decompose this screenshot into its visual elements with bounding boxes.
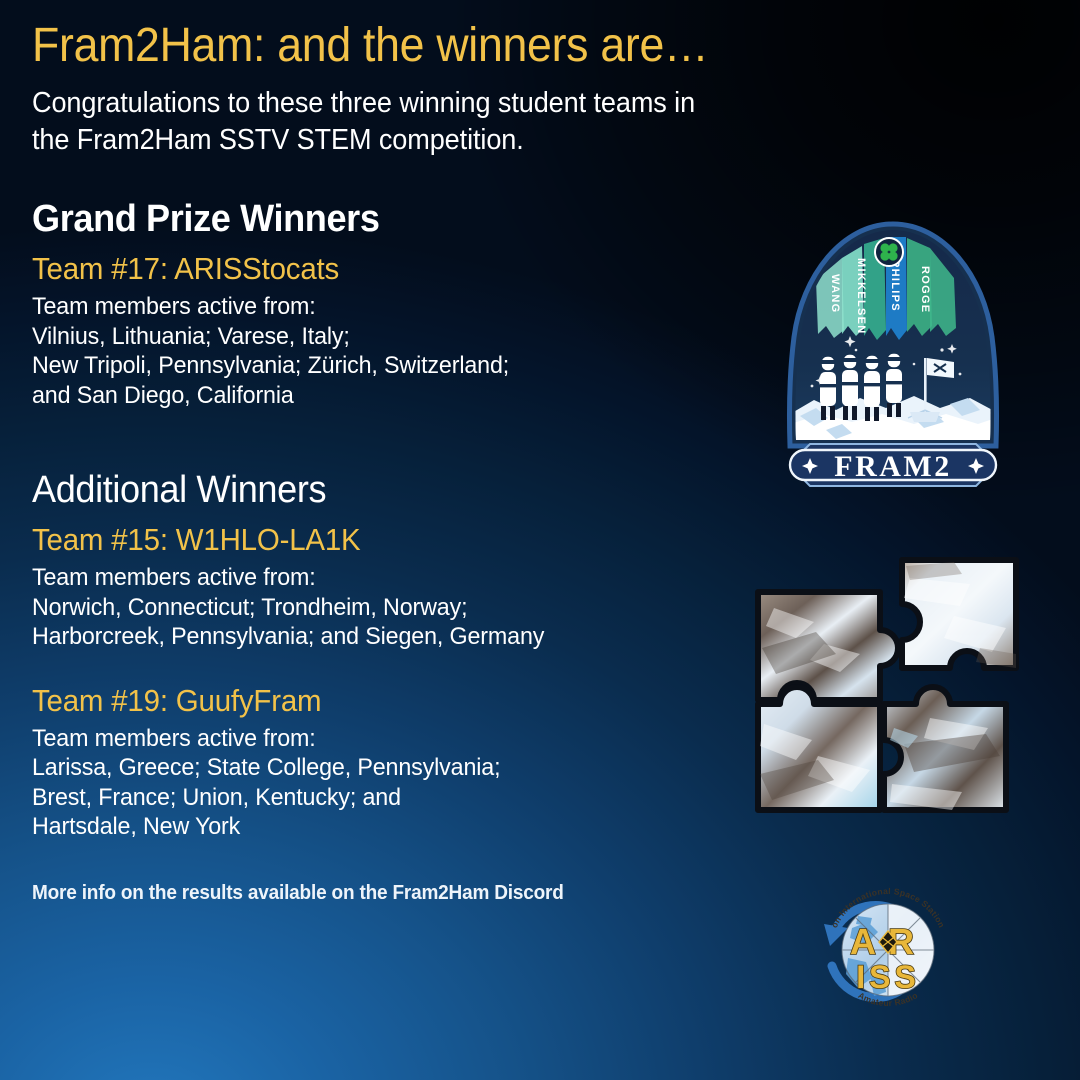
team-name-19: Team #19: GuufyFram xyxy=(32,682,697,719)
team-location-19-3: Hartsdale, New York xyxy=(32,812,697,842)
crew-name-philips: PHILIPS xyxy=(889,260,901,312)
team-members-label-17: Team members active from: xyxy=(32,292,697,322)
ariss-letters-bottom: ISS xyxy=(856,959,920,995)
team-location-17-3: and San Diego, California xyxy=(32,381,697,411)
team-block-17: Team #17: ARISStocats Team members activ… xyxy=(32,250,732,410)
fram2-banner-text: FRAM2 xyxy=(834,450,951,483)
team-name-17: Team #17: ARISStocats xyxy=(32,250,697,287)
section-grand-prize: Grand Prize Winners Team #17: ARISStocat… xyxy=(32,199,732,410)
puzzle-piece-bottom-left xyxy=(758,687,880,810)
team-block-19: Team #19: GuufyFram Team members active … xyxy=(32,682,732,842)
team-members-label-19: Team members active from: xyxy=(32,724,697,754)
team-block-15: Team #15: W1HLO-LA1K Team members active… xyxy=(32,521,732,652)
page-subtitle: Congratulations to these three winning s… xyxy=(32,85,697,159)
team-location-19-2: Brest, France; Union, Kentucky; and xyxy=(32,783,697,813)
team-location-15-1: Norwich, Connecticut; Trondheim, Norway; xyxy=(32,593,697,623)
puzzle-piece-bottom-right xyxy=(884,687,1006,810)
crew-name-mikkelsen: MIKKELSEN xyxy=(855,258,867,334)
fram2-banner: FRAM2 xyxy=(790,444,996,486)
poster-canvas: Fram2Ham: and the winners are… Congratul… xyxy=(0,0,1080,1080)
section-heading-additional: Additional Winners xyxy=(32,470,697,512)
section-heading-grand-prize: Grand Prize Winners xyxy=(32,199,697,241)
crew-name-wang: WANG xyxy=(829,274,841,313)
team-location-17-2: New Tripoli, Pennsylvania; Zürich, Switz… xyxy=(32,351,697,381)
ariss-logo-icon: on International Space Station Amateur R… xyxy=(808,880,968,1020)
puzzle-piece-top-left xyxy=(758,592,898,700)
team-location-19-1: Larissa, Greece; State College, Pennsylv… xyxy=(32,753,697,783)
glacier-puzzle-pieces-icon xyxy=(744,548,1036,820)
footnote-discord: More info on the results available on th… xyxy=(32,882,697,905)
crew-name-rogge: ROGGE xyxy=(919,266,931,313)
puzzle-piece-top-right xyxy=(902,560,1016,668)
team-members-label-15: Team members active from: xyxy=(32,563,697,593)
page-title: Fram2Ham: and the winners are… xyxy=(32,0,683,71)
team-location-15-2: Harborcreek, Pennsylvania; and Siegen, G… xyxy=(32,622,697,652)
team-name-15: Team #15: W1HLO-LA1K xyxy=(32,521,697,558)
team-location-17-1: Vilnius, Lithuania; Varese, Italy; xyxy=(32,322,697,352)
fram2-mission-patch-icon: WANG MIKKELSEN PHILIPS ROGGE xyxy=(764,218,1022,500)
text-column: Fram2Ham: and the winners are… Congratul… xyxy=(32,0,732,905)
section-additional-winners: Additional Winners Team #15: W1HLO-LA1K … xyxy=(32,470,732,842)
